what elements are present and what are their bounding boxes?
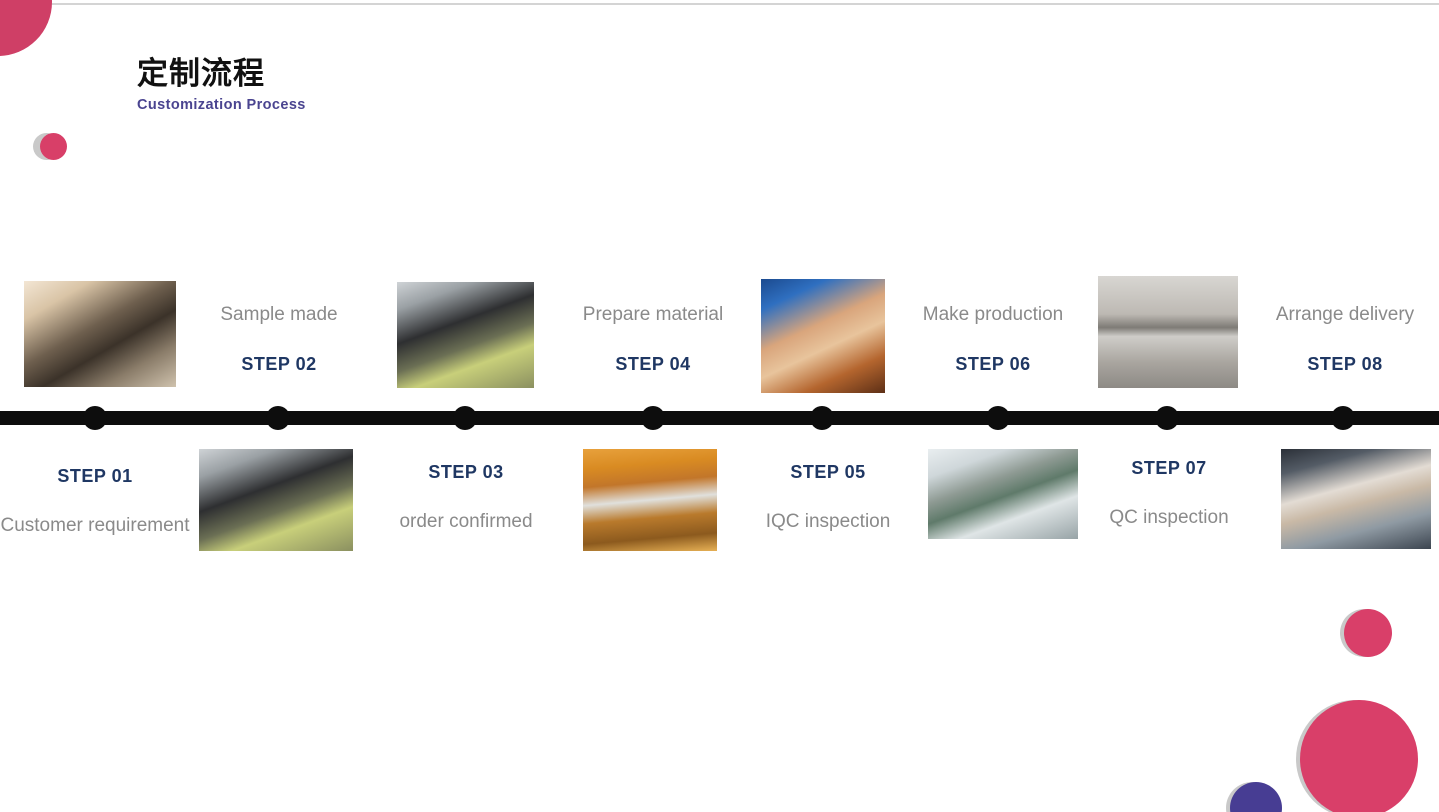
step-4-image-prepare-material xyxy=(583,449,717,551)
step-1-caption: STEP 01 Customer requirement xyxy=(0,466,200,537)
timeline-node-7[interactable] xyxy=(1155,406,1179,430)
step-2-caption: Sample made STEP 02 xyxy=(185,304,373,375)
step-7-number: STEP 07 xyxy=(1075,458,1263,479)
page-title-en: Customization Process xyxy=(137,97,306,113)
timeline-node-4[interactable] xyxy=(641,406,665,430)
timeline-node-3[interactable] xyxy=(453,406,477,430)
circle-top-left-decoration xyxy=(0,0,52,56)
step-1-label: Customer requirement xyxy=(0,515,200,537)
step-7-caption: STEP 07 QC inspection xyxy=(1075,458,1263,529)
step-6-caption: Make production STEP 06 xyxy=(898,304,1088,375)
step-3-label: order confirmed xyxy=(372,511,560,533)
step-8-number: STEP 08 xyxy=(1250,354,1439,375)
step-6-label: Make production xyxy=(898,304,1088,326)
step-4-number: STEP 04 xyxy=(558,354,748,375)
slide-heading: 定制流程 Customization Process xyxy=(137,57,306,113)
step-1-image-customer-requirement xyxy=(24,281,176,387)
step-3-number: STEP 03 xyxy=(372,462,560,483)
timeline-node-5[interactable] xyxy=(810,406,834,430)
circle-small-bottom-right-decoration xyxy=(1344,609,1392,657)
timeline-node-8[interactable] xyxy=(1331,406,1355,430)
circle-large-bottom-right-decoration xyxy=(1300,700,1418,812)
step-5-label: IQC inspection xyxy=(734,511,922,533)
slide-canvas: 定制流程 Customization Process STEP 01 Custo… xyxy=(0,0,1439,812)
page-title-cn: 定制流程 xyxy=(137,57,306,91)
timeline-node-6[interactable] xyxy=(986,406,1010,430)
step-7-label: QC inspection xyxy=(1075,507,1263,529)
top-divider-rule xyxy=(0,3,1439,5)
step-5-number: STEP 05 xyxy=(734,462,922,483)
step-6-number: STEP 06 xyxy=(898,354,1088,375)
step-6-image-make-production xyxy=(928,449,1078,539)
step-8-label: Arrange delivery xyxy=(1250,304,1439,326)
step-4-caption: Prepare material STEP 04 xyxy=(558,304,748,375)
step-7-image-qc-inspection xyxy=(1098,276,1238,388)
step-5-image-iqc-inspection xyxy=(761,279,885,393)
step-3-image-order-confirmed xyxy=(397,282,534,388)
step-8-image-arrange-delivery xyxy=(1281,449,1431,549)
step-3-caption: STEP 03 order confirmed xyxy=(372,462,560,533)
timeline-axis xyxy=(0,411,1439,425)
step-1-number: STEP 01 xyxy=(0,466,200,487)
step-2-number: STEP 02 xyxy=(185,354,373,375)
step-4-label: Prepare material xyxy=(558,304,748,326)
step-8-caption: Arrange delivery STEP 08 xyxy=(1250,304,1439,375)
timeline-node-2[interactable] xyxy=(266,406,290,430)
step-5-caption: STEP 05 IQC inspection xyxy=(734,462,922,533)
step-2-label: Sample made xyxy=(185,304,373,326)
circle-mini-heading-decoration xyxy=(40,133,67,160)
step-2-image-sample-made xyxy=(199,449,353,551)
timeline-node-1[interactable] xyxy=(83,406,107,430)
